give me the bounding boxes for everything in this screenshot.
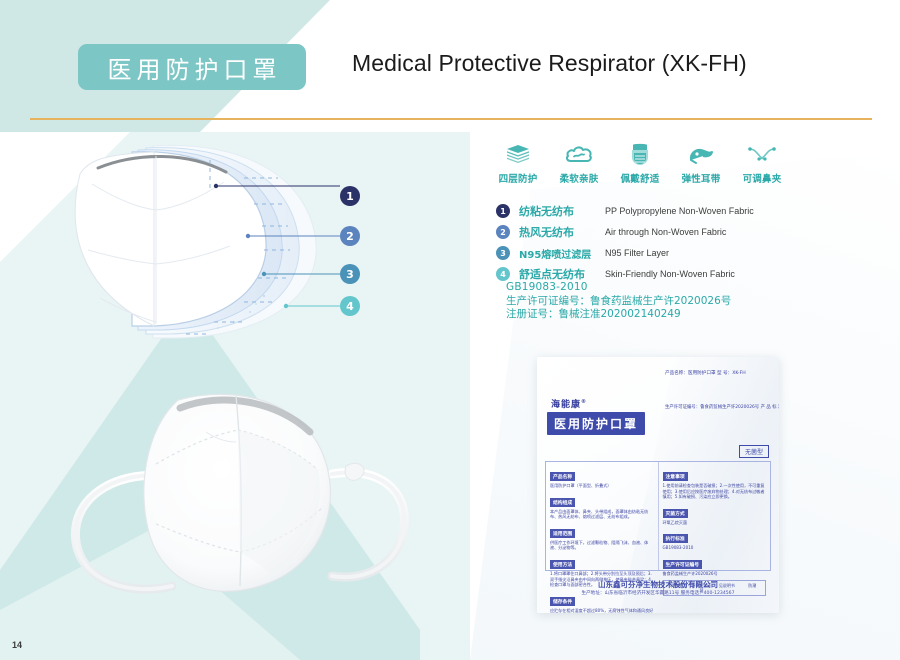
product-package-photo: 产品名称：医用防护口罩 型 号：XK-FH 海能康® 医用防护口罩 生产许可证编… (537, 357, 779, 613)
package-text: 环氧乙烷灭菌 (663, 520, 767, 526)
package-brand: 海能康® (551, 397, 587, 410)
layer-legend-list: 1 纺粘无纺布 PP Polypropylene Non-Woven Fabri… (496, 202, 796, 286)
package-heading: 执行标准 (663, 534, 688, 543)
registered-mark-icon: ® (581, 399, 587, 405)
regulatory-info: GB19083-2010 生产许可证编号：鲁食药监械生产许2020026号 注册… (506, 281, 731, 322)
legend-label-en: Skin-Friendly Non-Woven Fabric (605, 269, 735, 279)
package-right-column: 注意事项 1.使用前请检查包装是否破损；2.一次性使用，不可重复使用；3.使用后… (659, 462, 771, 570)
package-text: 医用防护口罩（平面型、折叠式） (550, 483, 654, 489)
legend-label-en: Air through Non-Woven Fabric (605, 227, 726, 237)
kn95-mask-product-photo (60, 378, 410, 628)
standard-code: GB19083-2010 (506, 281, 731, 295)
production-license: 生产许可证编号：鲁食药监械生产许2020026号 (506, 295, 731, 309)
package-product-name: 医用防护口罩 (547, 412, 645, 435)
title-badge-cn: 医用防护口罩 (78, 44, 306, 90)
legend-badge-4: 4 (496, 267, 510, 281)
layers-icon (490, 142, 546, 168)
package-text: GB19083-2010 (663, 545, 767, 551)
legend-label-en: PP Polypropylene Non-Woven Fabric (605, 206, 754, 216)
legend-label-cn: N95熔喷过滤层 (519, 246, 601, 261)
package-heading: 使用方法 (550, 560, 575, 569)
legend-label-cn: 热风无纺布 (519, 224, 601, 240)
package-heading: 注意事项 (663, 472, 688, 481)
package-heading: 产品名称 (550, 472, 575, 481)
legend-badge-3: 3 (496, 246, 510, 260)
feature-label: 可调鼻夹 (734, 171, 790, 185)
layered-mask-cutaway-diagram (58, 138, 388, 343)
callout-badge-3[interactable]: 3 (340, 264, 360, 284)
legend-row: 2 热风无纺布 Air through Non-Woven Fabric (496, 223, 796, 241)
feature-label: 四层防护 (490, 171, 546, 185)
face-mask-icon (612, 142, 668, 168)
legend-badge-1: 1 (496, 204, 510, 218)
package-company-name: 山东鑫可芬净生物技术股份有限公司 (537, 579, 779, 590)
package-mid-info: 生产许可证编号：鲁食药监械生产许2020026号 产 品 标 准：GB19083… (665, 405, 779, 411)
package-heading: 适用范围 (550, 529, 575, 538)
package-text: 鲁食药监械生产许2020026号 (663, 571, 767, 577)
package-heading: 结构组成 (550, 498, 575, 507)
callout-badge-4[interactable]: 4 (340, 296, 360, 316)
package-text: 1.使用前请检查包装是否破损；2.一次性使用，不可重复使用；3.使用后应按医疗废… (663, 483, 767, 500)
package-top-info: 产品名称：医用防护口罩 型 号：XK-FH (665, 371, 746, 377)
package-info-panel: 产品名称 医用防护口罩（平面型、折叠式） 结构组成 本产品由面罩体、鼻夹、头带组… (545, 461, 771, 571)
cloud-soft-icon (551, 142, 607, 168)
registration-number: 注册证号：鲁械注准202002140249 (506, 308, 731, 322)
package-heading: 生产许可证编号 (663, 560, 703, 569)
callout-badge-1[interactable]: 1 (340, 186, 360, 206)
title-badge-label: 医用防护口罩 (103, 50, 282, 85)
legend-badge-2: 2 (496, 225, 510, 239)
package-text: 本产品由面罩体、鼻夹、头带组成，面罩体由纺粘无纺布、热风无纺布、熔喷过滤层、无纺… (550, 509, 654, 520)
package-brand-name: 海能康 (551, 400, 581, 410)
package-left-column: 产品名称 医用防护口罩（平面型、折叠式） 结构组成 本产品由面罩体、鼻夹、头带组… (546, 462, 659, 570)
package-address: 生产地址：山东省临沂市经济开发区华赢路11号 服务电话：400-1234567 (537, 590, 779, 596)
package-sterile-tag: 无菌型 (739, 445, 769, 458)
feature-label: 弹性耳带 (673, 171, 729, 185)
package-text: 应贮存在相对湿度不超过80%，无腐蚀性气体和通风良好的室内。 (550, 608, 654, 613)
feature-item-soft-skin: 柔软亲肤 (551, 142, 607, 185)
package-heading: 储存条件 (550, 597, 575, 606)
nose-clip-icon (734, 142, 790, 168)
page-title-en: Medical Protective Respirator (XK-FH) (352, 50, 747, 77)
feature-label: 佩戴舒适 (612, 171, 668, 185)
slide-page: 医用防护口罩 Medical Protective Respirator (XK… (0, 0, 900, 660)
feature-label: 柔软亲肤 (551, 171, 607, 185)
legend-row: 1 纺粘无纺布 PP Polypropylene Non-Woven Fabri… (496, 202, 796, 220)
gold-divider (30, 118, 872, 120)
feature-icons-row: 四层防护 柔软亲肤 佩戴舒适 (490, 142, 790, 190)
callout-badge-2[interactable]: 2 (340, 226, 360, 246)
legend-label-cn: 纺粘无纺布 (519, 203, 601, 219)
feature-item-ear-loop: 弹性耳带 (673, 142, 729, 185)
page-number: 14 (12, 640, 22, 650)
legend-label-en: N95 Filter Layer (605, 248, 669, 258)
feature-item-comfort: 佩戴舒适 (612, 142, 668, 185)
diagram-callout-badges: 1 2 3 4 (340, 186, 380, 306)
legend-label-cn: 舒适点无纺布 (519, 266, 601, 282)
feature-item-four-layer: 四层防护 (490, 142, 546, 185)
ear-loop-icon (673, 142, 729, 168)
feature-item-nose-clip: 可调鼻夹 (734, 142, 790, 185)
package-heading: 灭菌方式 (663, 509, 688, 518)
legend-row: 3 N95熔喷过滤层 N95 Filter Layer (496, 244, 796, 262)
package-text: 供医疗工作环境下，过滤颗粒物、阻隔飞沫、血液、体液、分泌物等。 (550, 540, 654, 551)
